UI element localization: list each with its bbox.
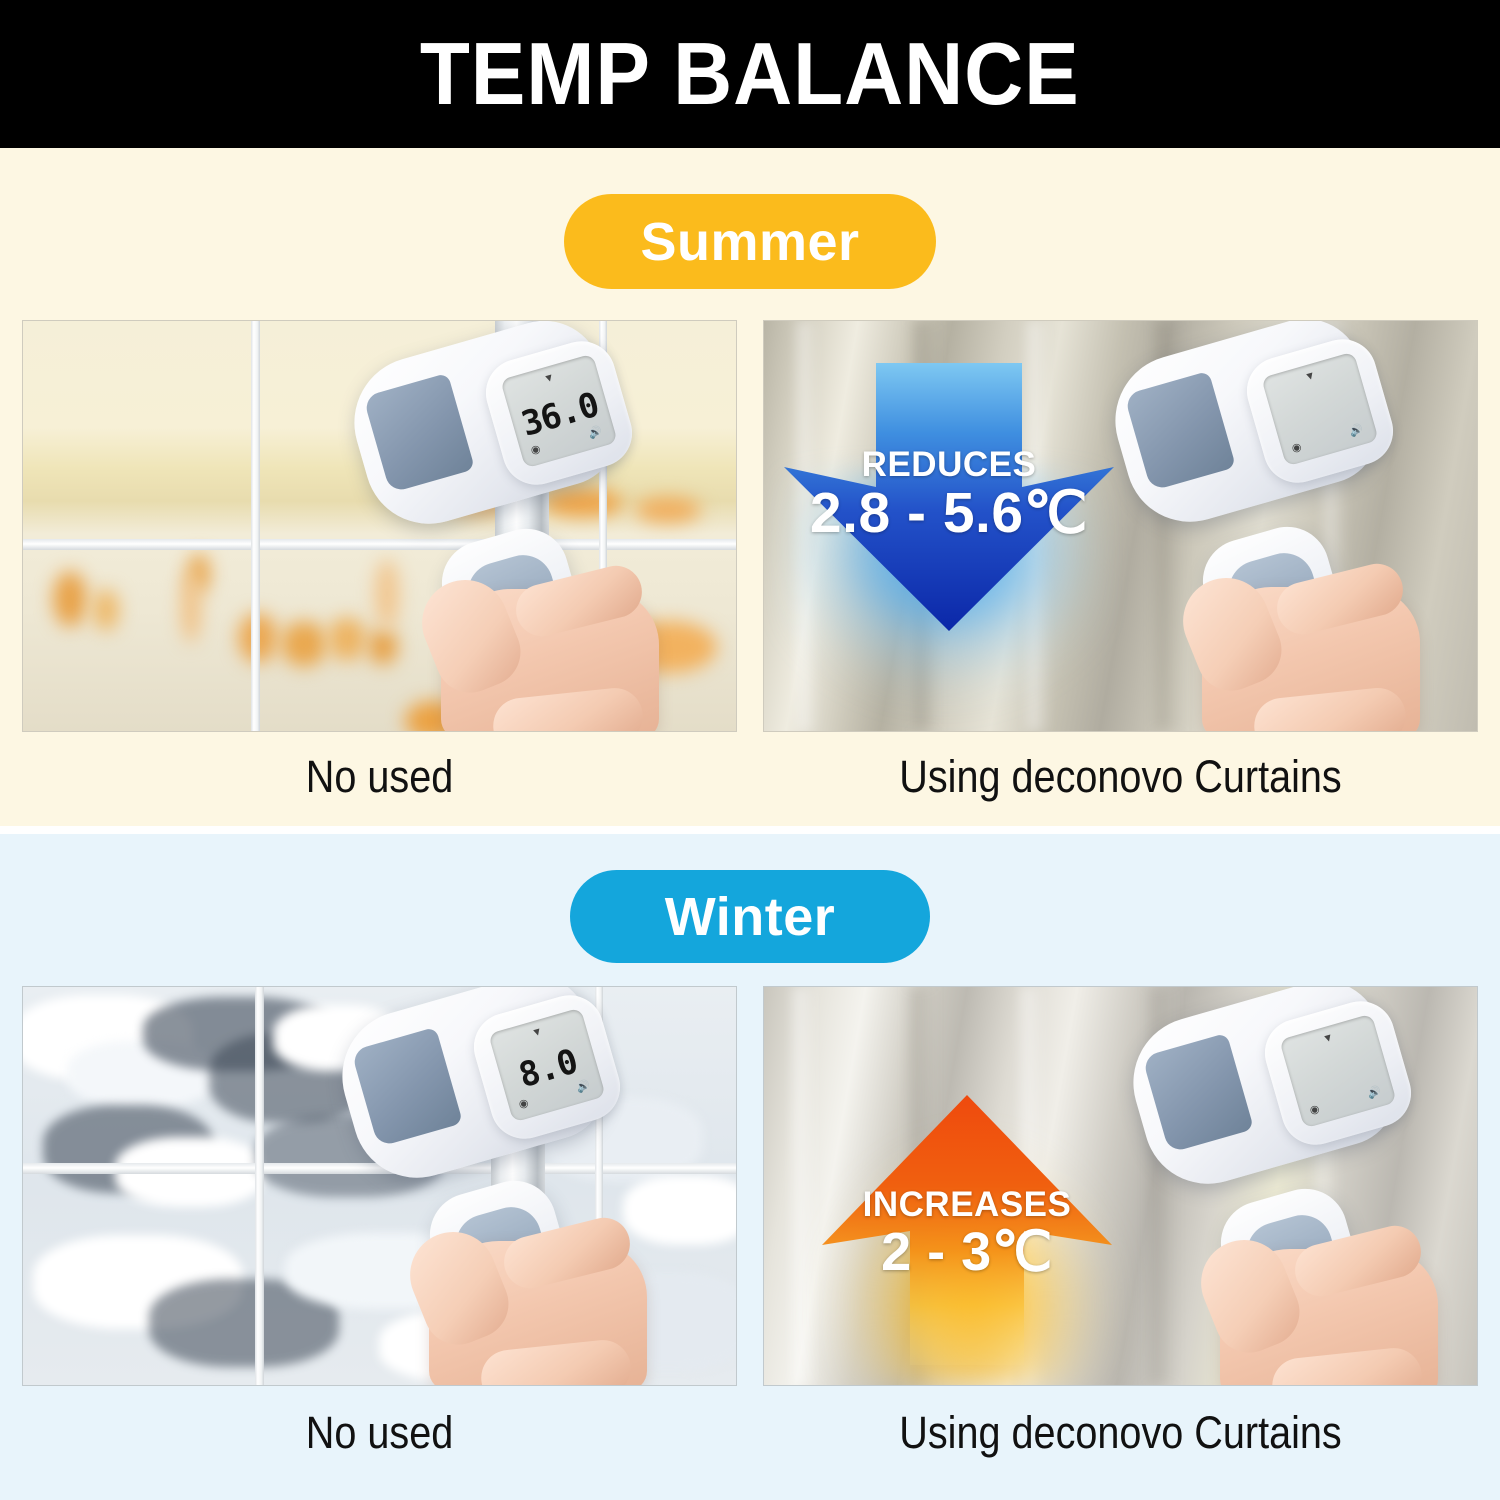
page-title: TEMP BALANCE [420, 30, 1080, 118]
caption-winter-with-curtain: Using deconovo Curtains [806, 1410, 1435, 1455]
lcd-battery-icon: ▼ [1321, 1031, 1335, 1046]
caption-summer-no-curtain: No used [65, 754, 694, 799]
arrow-up-icon [822, 1095, 1112, 1365]
lcd-battery-icon: ▼ [542, 371, 556, 386]
reduces-arrow-graphic: REDUCES 2.8 - 5.6℃ [784, 363, 1114, 633]
winter-panel-row: ▼ 8.0 ◉ 🔊 [22, 986, 1478, 1386]
summer-panel-no-curtain: ▼ 36.0 ◉ 🔊 [22, 320, 737, 732]
lcd-mode-icon: ◉ [529, 442, 542, 457]
infographic-page: TEMP BALANCE Summer [0, 0, 1500, 1500]
lcd-mode-icon: ◉ [517, 1096, 530, 1111]
lcd-mode-icon: ◉ [1290, 440, 1303, 455]
lcd-battery-icon: ▼ [530, 1025, 544, 1040]
winter-panel-no-curtain: ▼ 8.0 ◉ 🔊 [22, 986, 737, 1386]
increases-arrow-graphic: INCREASES 2 - 3℃ [822, 1095, 1112, 1365]
caption-summer-with-curtain: Using deconovo Curtains [806, 754, 1435, 799]
season-badge-summer-label: Summer [640, 211, 859, 273]
lcd-sound-icon: 🔊 [1366, 1084, 1383, 1100]
winter-panel-with-curtain: INCREASES 2 - 3℃ ▼ ◉ 🔊 [763, 986, 1478, 1386]
season-badge-winter-label: Winter [665, 886, 836, 948]
header-bar: TEMP BALANCE [0, 0, 1500, 148]
window-mullion-horizontal [23, 539, 736, 550]
window-mullion-vertical [255, 987, 264, 1385]
lcd-sound-icon: 🔊 [575, 1078, 592, 1094]
lcd-battery-icon: ▼ [1303, 369, 1317, 384]
arrow-down-icon [784, 363, 1114, 633]
summer-caption-row: No used Using deconovo Curtains [22, 754, 1478, 799]
section-divider [0, 826, 1500, 834]
season-badge-summer: Summer [564, 194, 936, 289]
lcd-sound-icon: 🔊 [1348, 422, 1365, 438]
summer-panel-row: ▼ 36.0 ◉ 🔊 [22, 320, 1478, 732]
window-mullion-vertical [251, 321, 260, 731]
season-badge-winter: Winter [570, 870, 930, 963]
section-summer: Summer [0, 148, 1500, 834]
section-winter: Winter [0, 834, 1500, 1500]
winter-caption-row: No used Using deconovo Curtains [22, 1410, 1478, 1455]
lcd-sound-icon: 🔊 [587, 424, 604, 440]
lcd-mode-icon: ◉ [1308, 1102, 1321, 1117]
caption-winter-no-curtain: No used [65, 1410, 694, 1455]
summer-panel-with-curtain: REDUCES 2.8 - 5.6℃ ▼ ◉ 🔊 [763, 320, 1478, 732]
